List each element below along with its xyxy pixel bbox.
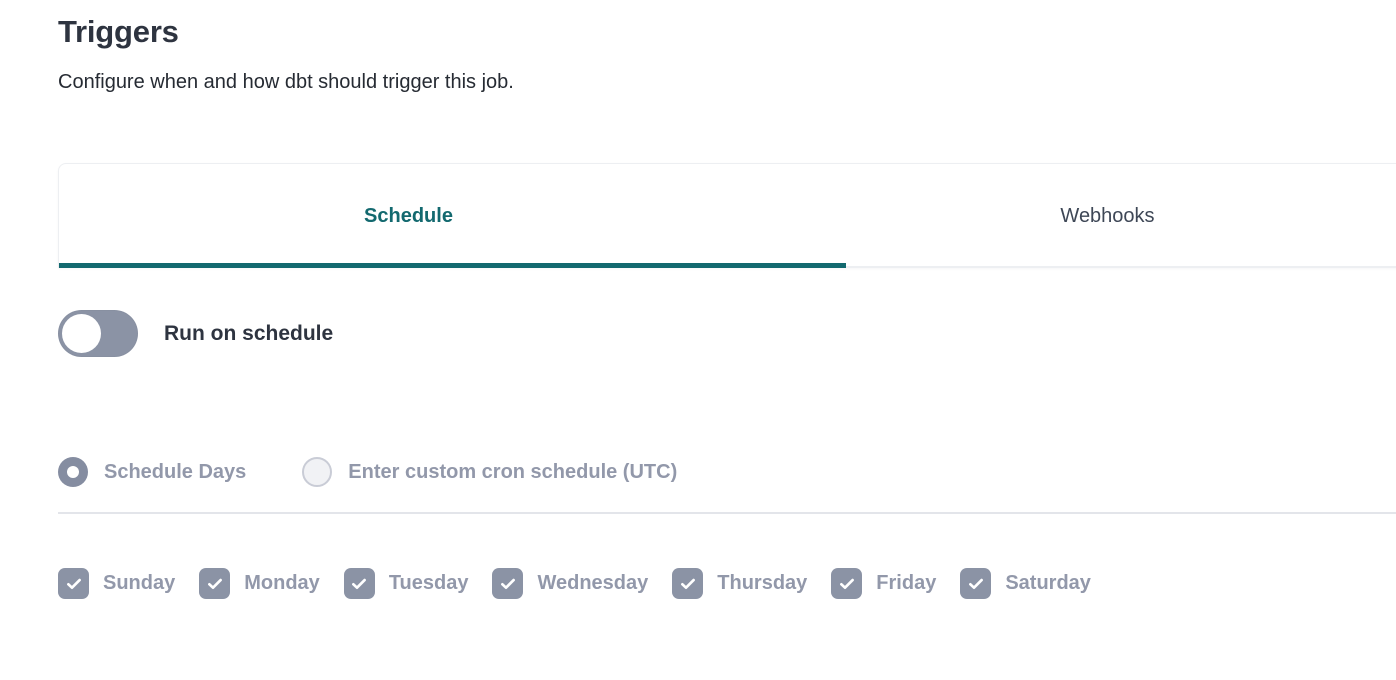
check-icon[interactable] bbox=[199, 568, 230, 599]
radio-custom-cron-icon[interactable] bbox=[302, 457, 332, 487]
tab-active-indicator bbox=[59, 263, 846, 268]
page-subtitle: Configure when and how dbt should trigge… bbox=[58, 68, 1338, 96]
tab-schedule[interactable]: Schedule bbox=[59, 164, 758, 268]
radio-schedule-days-icon[interactable] bbox=[58, 457, 88, 487]
check-icon[interactable] bbox=[58, 568, 89, 599]
triggers-page: Triggers Configure when and how dbt shou… bbox=[0, 0, 1396, 680]
day-checkbox-sunday[interactable]: Sunday bbox=[58, 568, 175, 599]
day-label-friday: Friday bbox=[876, 572, 936, 595]
check-icon[interactable] bbox=[344, 568, 375, 599]
tab-bottom-border bbox=[846, 266, 1396, 268]
page-header: Triggers Configure when and how dbt shou… bbox=[58, 10, 1338, 96]
check-icon[interactable] bbox=[672, 568, 703, 599]
check-icon[interactable] bbox=[960, 568, 991, 599]
day-label-wednesday: Wednesday bbox=[537, 572, 648, 595]
day-checkbox-monday[interactable]: Monday bbox=[199, 568, 320, 599]
radio-custom-cron-label: Enter custom cron schedule (UTC) bbox=[348, 461, 677, 484]
day-checkbox-wednesday[interactable]: Wednesday bbox=[492, 568, 648, 599]
schedule-mode-radio-group: Schedule Days Enter custom cron schedule… bbox=[58, 457, 677, 487]
check-icon[interactable] bbox=[831, 568, 862, 599]
run-on-schedule-label: Run on schedule bbox=[164, 322, 333, 346]
run-on-schedule-toggle[interactable] bbox=[58, 310, 138, 357]
radio-option-schedule-days[interactable]: Schedule Days bbox=[58, 457, 246, 487]
schedule-days-row: Sunday Monday Tuesday bbox=[58, 568, 1091, 599]
toggle-knob bbox=[62, 314, 101, 353]
tab-webhooks[interactable]: Webhooks bbox=[758, 164, 1396, 268]
day-checkbox-friday[interactable]: Friday bbox=[831, 568, 936, 599]
day-checkbox-saturday[interactable]: Saturday bbox=[960, 568, 1091, 599]
tab-list: Schedule Webhooks bbox=[59, 164, 1396, 268]
day-checkbox-tuesday[interactable]: Tuesday bbox=[344, 568, 469, 599]
run-on-schedule-row: Run on schedule bbox=[58, 310, 333, 357]
day-checkbox-thursday[interactable]: Thursday bbox=[672, 568, 807, 599]
radio-schedule-days-label: Schedule Days bbox=[104, 461, 246, 484]
day-label-thursday: Thursday bbox=[717, 572, 807, 595]
day-label-monday: Monday bbox=[244, 572, 320, 595]
day-label-saturday: Saturday bbox=[1005, 572, 1091, 595]
day-label-tuesday: Tuesday bbox=[389, 572, 469, 595]
tabs-container: Schedule Webhooks bbox=[58, 163, 1396, 268]
day-label-sunday: Sunday bbox=[103, 572, 175, 595]
section-divider bbox=[58, 512, 1396, 514]
page-title: Triggers bbox=[58, 10, 1338, 54]
check-icon[interactable] bbox=[492, 568, 523, 599]
radio-option-custom-cron[interactable]: Enter custom cron schedule (UTC) bbox=[302, 457, 677, 487]
